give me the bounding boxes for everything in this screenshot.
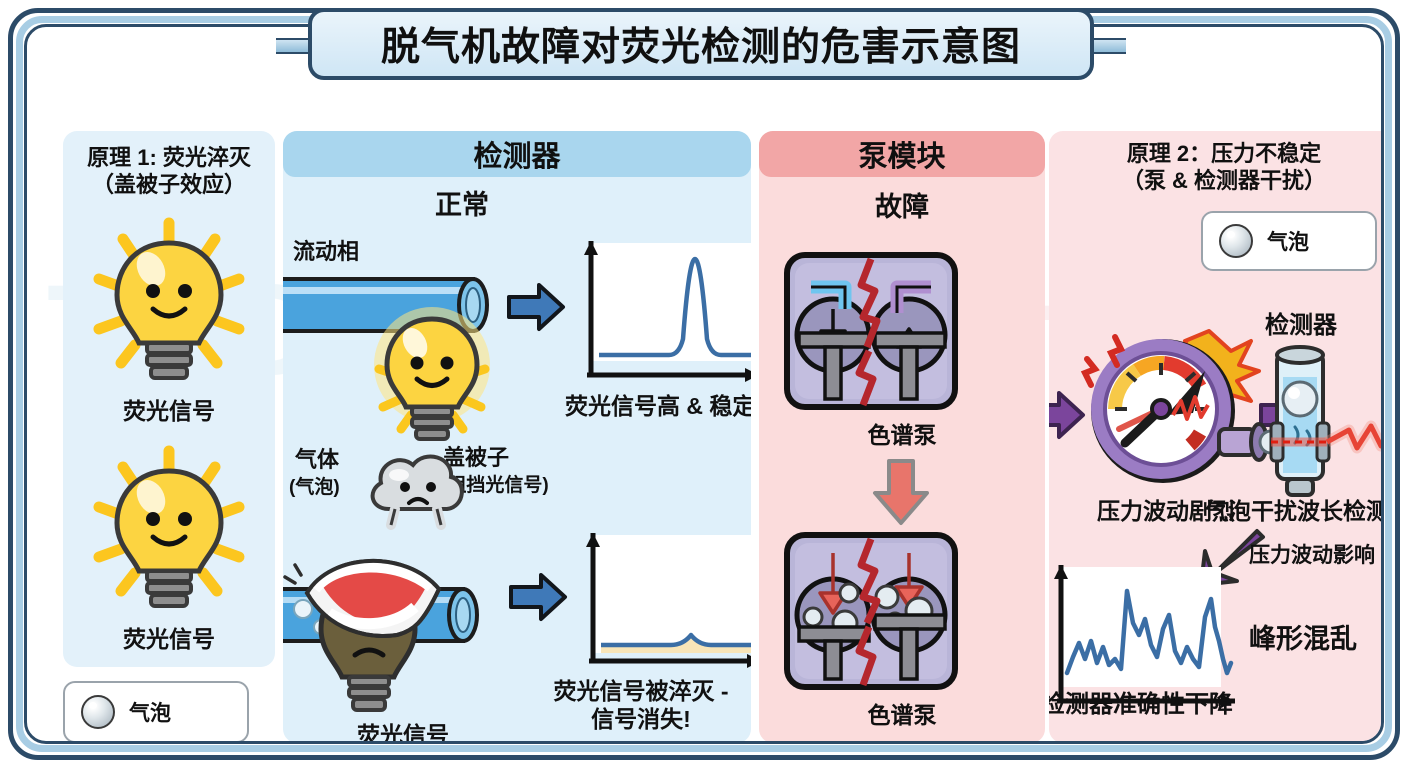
pump-band: 泵模块 <box>759 131 1045 177</box>
quenched-caption-line1: 荧光信号被淬灭 - <box>533 677 749 705</box>
blanketed-flowcell-icon <box>283 527 523 737</box>
title-box: 脱气机故障对荧光检测的危害示意图 <box>308 8 1094 80</box>
arrow-right-blue-2-icon <box>507 571 569 623</box>
arrow-right-blue-1-icon <box>505 281 567 333</box>
pressure-effect-label: 压力波动影响 <box>1249 543 1375 568</box>
bulb-2-label: 荧光信号 <box>63 625 275 653</box>
arrow-down-red-icon <box>871 457 931 527</box>
happy-bulb-icon-2 <box>85 445 253 617</box>
legend-bubble-left-label: 气泡 <box>129 697 171 727</box>
mobile-phase-label: 流动相 <box>293 239 359 265</box>
normal-chart-caption: 荧光信号高 & 稳定 <box>565 393 751 421</box>
pump-band-title: 泵模块 <box>858 133 945 175</box>
gas-label-line1: 气体 <box>295 447 339 473</box>
detector-label: 检测器 <box>1221 311 1381 340</box>
principle-1-heading: 原理 1: 荧光淬灭 （盖被子效应） <box>63 145 275 199</box>
glowing-bulb-icon <box>357 303 507 455</box>
pump-bottom-label: 色谱泵 <box>759 701 1045 729</box>
sad-bulb-label: 荧光信号 <box>303 721 503 743</box>
detector-band: 检测器 <box>283 131 751 177</box>
legend-bubble-left: 气泡 <box>63 681 249 743</box>
principle-2-heading: 原理 2：压力不稳定 （泵 & 检测器干扰） <box>1049 141 1384 195</box>
principle-1-heading-line2: （盖被子效应） <box>63 172 275 199</box>
pump-icon-faulty <box>783 531 959 691</box>
principle-1-panel: 原理 1: 荧光淬灭 （盖被子效应） <box>63 131 275 667</box>
detector-panel: 检测器 正常 流动相 <box>283 131 751 743</box>
pump-panel: 泵模块 故障 <box>759 131 1045 743</box>
bubble-icon <box>1219 224 1253 258</box>
gas-label-line2: (气泡) <box>289 477 340 500</box>
fault-title: 故障 <box>759 191 1045 224</box>
pump-icon-normal <box>783 251 959 411</box>
quenched-caption-line2: 信号消失! <box>533 705 749 733</box>
legend-bubble-right: 气泡 <box>1201 211 1377 271</box>
flowcell-detector-icon <box>1215 343 1384 503</box>
gas-cloud-icon <box>361 443 471 537</box>
infographic-canvas: TECHN TA 原理 1: 荧光淬灭 （盖被子效应） <box>0 0 1408 768</box>
detector-band-title: 检测器 <box>473 133 560 175</box>
peak-chaos-label: 峰形混乱 <box>1249 623 1357 655</box>
content-area: TECHN TA 原理 1: 荧光淬灭 （盖被子效应） <box>24 24 1384 744</box>
normal-title: 正常 <box>435 189 489 221</box>
quenched-chart-caption: 荧光信号被淬灭 - 信号消失! <box>533 677 749 733</box>
bubble-icon <box>81 695 115 729</box>
bulb-1-label: 荧光信号 <box>63 397 275 425</box>
pump-top-label: 色谱泵 <box>759 421 1045 449</box>
principle-2-heading-line2: （泵 & 检测器干扰） <box>1049 168 1384 195</box>
happy-bulb-icon-1 <box>85 217 253 389</box>
flowcell-caption: 气泡干扰波长检测 <box>1193 497 1384 525</box>
chart-normal-peak <box>573 239 751 391</box>
principle-1-heading-line1: 原理 1: 荧光淬灭 <box>63 145 275 172</box>
legend-bubble-right-label: 气泡 <box>1267 226 1309 256</box>
principle-2-panel: 原理 2：压力不稳定 （泵 & 检测器干扰） 气泡 <box>1049 131 1384 743</box>
principle-2-heading-line1: 原理 2：压力不稳定 <box>1049 141 1384 168</box>
chart-quenched-peak <box>575 531 751 677</box>
page-title: 脱气机故障对荧光检测的危害示意图 <box>381 16 1021 72</box>
title-container: 脱气机故障对荧光检测的危害示意图 <box>286 8 1116 80</box>
accuracy-caption: 检测器准确性下降 <box>1049 691 1233 720</box>
